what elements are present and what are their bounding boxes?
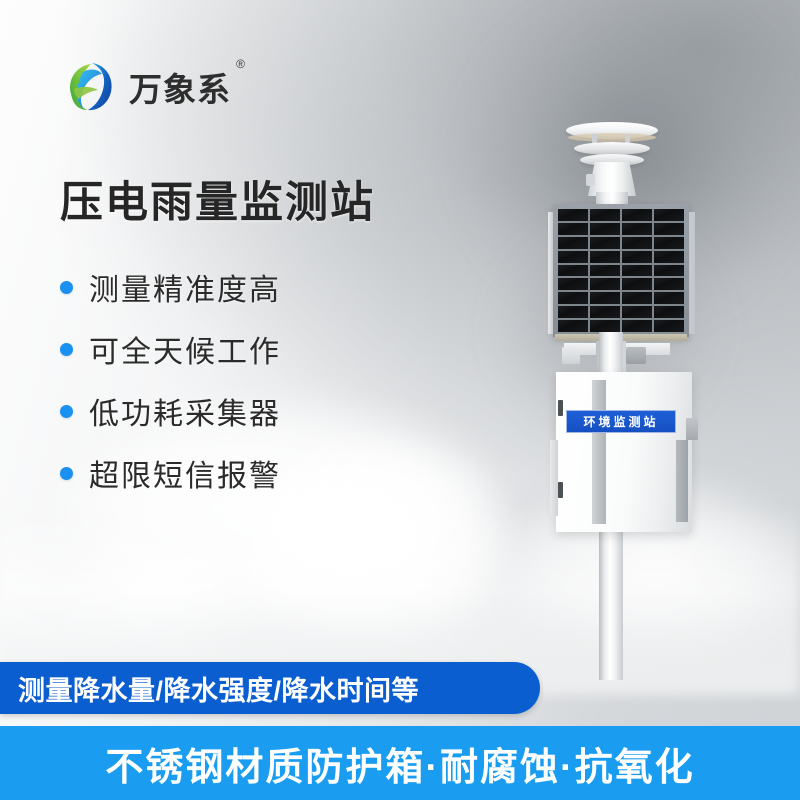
solar-cell bbox=[590, 251, 620, 263]
solar-cell bbox=[654, 292, 684, 304]
feature-label: 测量精准度高 bbox=[89, 265, 281, 309]
solar-cell bbox=[622, 251, 652, 263]
footer-text: 不锈钢材质防护箱·耐腐蚀·抗氧化 bbox=[105, 736, 694, 791]
solar-cell bbox=[654, 278, 684, 290]
solar-cell bbox=[654, 265, 684, 277]
solar-cell bbox=[622, 237, 652, 249]
solar-cell bbox=[622, 209, 652, 221]
panel-bracket-right bbox=[626, 347, 646, 364]
bullet-dot-icon bbox=[60, 343, 73, 356]
solar-cell bbox=[654, 320, 684, 332]
solar-cell bbox=[622, 278, 652, 290]
enclosure-nameplate: 环境监测站 bbox=[566, 410, 676, 433]
globe-swoosh-logo-icon bbox=[62, 58, 120, 116]
enclosure-side-shadow bbox=[592, 380, 606, 524]
brand-logo: 万象系 ® bbox=[62, 58, 231, 116]
piezoelectric-rain-sensor-icon bbox=[566, 112, 658, 190]
enclosure-lip-left bbox=[550, 440, 558, 516]
solar-cell bbox=[654, 223, 684, 235]
feature-list: 测量精准度高 可全天候工作 低功耗采集器 超限短信报警 bbox=[60, 256, 400, 504]
enclosure-nameplate-text: 环境监测站 bbox=[583, 413, 658, 430]
solar-cell bbox=[558, 320, 588, 332]
solar-cell bbox=[590, 223, 620, 235]
solar-cell bbox=[590, 320, 620, 332]
solar-cell bbox=[590, 306, 620, 318]
solar-cell bbox=[558, 292, 588, 304]
solar-cell bbox=[622, 292, 652, 304]
feature-label: 可全天候工作 bbox=[89, 327, 281, 371]
enclosure-latch-upper bbox=[558, 400, 563, 416]
logo-wordmark-text: 万象系 bbox=[129, 71, 231, 108]
panel-bracket-left bbox=[562, 347, 580, 364]
list-item: 测量精准度高 bbox=[60, 256, 400, 318]
solar-cell bbox=[654, 306, 684, 318]
highlight-pill-banner: 测量降水量/降水强度/降水时间等 bbox=[0, 662, 540, 714]
bullet-dot-icon bbox=[60, 281, 73, 294]
solar-cell bbox=[558, 278, 588, 290]
solar-cell bbox=[654, 251, 684, 263]
list-item: 超限短信报警 bbox=[60, 442, 400, 504]
feature-label: 超限短信报警 bbox=[89, 451, 281, 495]
solar-cell bbox=[558, 237, 588, 249]
solar-cell bbox=[590, 278, 620, 290]
solar-cell bbox=[558, 265, 588, 277]
product-promo-banner: 万象系 ® 压电雨量监测站 测量精准度高 可全天候工作 低功耗采集器 超限短信报… bbox=[0, 0, 800, 800]
bullet-dot-icon bbox=[60, 405, 73, 418]
enclosure-tab bbox=[686, 418, 698, 440]
solar-cell bbox=[622, 265, 652, 277]
solar-cell bbox=[622, 223, 652, 235]
logo-wordmark: 万象系 ® bbox=[129, 63, 231, 111]
enclosure-fin-right bbox=[676, 440, 688, 522]
solar-cell bbox=[654, 209, 684, 221]
solar-panel-icon bbox=[553, 204, 689, 337]
bullet-dot-icon bbox=[60, 467, 73, 480]
solar-cell bbox=[590, 292, 620, 304]
solar-cell bbox=[654, 237, 684, 249]
footer-banner: 不锈钢材质防护箱·耐腐蚀·抗氧化 bbox=[0, 726, 800, 800]
registered-mark-icon: ® bbox=[236, 57, 246, 71]
solar-cell bbox=[622, 306, 652, 318]
highlight-pill-text: 测量降水量/降水强度/降水时间等 bbox=[18, 669, 419, 708]
solar-cell bbox=[622, 320, 652, 332]
solar-cell bbox=[558, 251, 588, 263]
list-item: 可全天候工作 bbox=[60, 318, 400, 380]
feature-label: 低功耗采集器 bbox=[89, 389, 281, 433]
solar-cell bbox=[590, 209, 620, 221]
solar-cell bbox=[558, 306, 588, 318]
list-item: 低功耗采集器 bbox=[60, 380, 400, 442]
page-title: 压电雨量监测站 bbox=[60, 168, 375, 230]
solar-cell bbox=[590, 237, 620, 249]
solar-cell bbox=[558, 209, 588, 221]
solar-cell-grid bbox=[558, 209, 684, 332]
solar-cell bbox=[590, 265, 620, 277]
solar-cell bbox=[558, 223, 588, 235]
enclosure-box bbox=[556, 372, 692, 532]
product-image: 环境监测站 bbox=[470, 100, 770, 680]
enclosure-latch-lower bbox=[558, 482, 563, 498]
